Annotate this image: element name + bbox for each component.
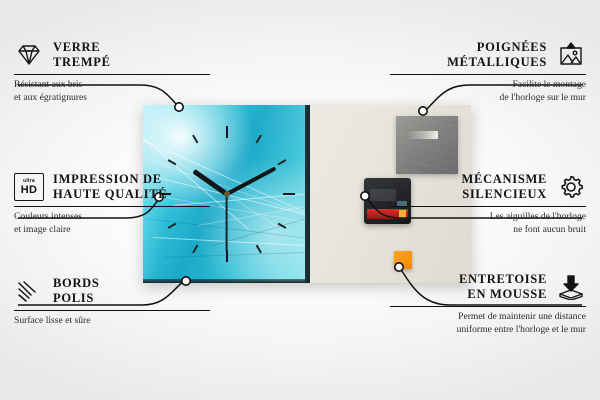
clock-right-edge	[305, 105, 310, 283]
feature-divider	[14, 206, 210, 207]
feature-divider	[390, 306, 586, 307]
clock-second-hand	[226, 194, 228, 252]
feature-title: BORDS POLIS	[53, 276, 100, 306]
metal-hanger-plate	[396, 116, 458, 174]
feature-title: POIGNÉES MÉTALLIQUES	[447, 40, 547, 70]
product-infographic: VERRE TREMPÉ Résistant aux bris et aux é…	[0, 0, 600, 400]
feature-bords-polis: BORDS POLIS Surface lisse et sûre	[14, 276, 210, 328]
feature-description: Les aiguilles de l'horloge ne font aucun…	[390, 211, 586, 237]
feature-title: ENTRETOISE EN MOUSSE	[459, 272, 547, 302]
polished-edges-icon	[14, 276, 44, 306]
feature-divider	[390, 74, 586, 75]
gear-icon	[556, 172, 586, 202]
feature-divider	[390, 206, 586, 207]
feature-poignees-metalliques: POIGNÉES MÉTALLIQUES Facilite le montage…	[390, 40, 586, 105]
feature-divider	[14, 74, 210, 75]
feature-header: BORDS POLIS	[14, 276, 210, 306]
feature-header: VERRE TREMPÉ	[14, 40, 210, 70]
clock-center-cap	[224, 191, 230, 197]
feature-title: IMPRESSION DE HAUTE QUALITÉ	[53, 172, 167, 202]
feature-description: Couleurs intenses et image claire	[14, 211, 210, 237]
feature-header: MÉCANISME SILENCIEUX	[390, 172, 586, 202]
press-down-foam-icon	[556, 272, 586, 302]
hanger-slot	[408, 131, 438, 139]
feature-description: Résistant aux bris et aux égratignures	[14, 79, 210, 105]
feature-entretoise-en-mousse: ENTRETOISE EN MOUSSE Permet de maintenir…	[390, 272, 586, 337]
diamond-icon	[14, 40, 44, 70]
feature-mecanisme-silencieux: MÉCANISME SILENCIEUX Les aiguilles de l'…	[390, 172, 586, 237]
feature-description: Permet de maintenir une distance uniform…	[390, 311, 586, 337]
feature-verre-trempe: VERRE TREMPÉ Résistant aux bris et aux é…	[14, 40, 210, 105]
feature-divider	[14, 310, 210, 311]
feature-header: ultra HD IMPRESSION DE HAUTE QUALITÉ	[14, 172, 210, 202]
feature-description: Facilite le montage de l'horloge sur le …	[390, 79, 586, 105]
feature-title: VERRE TREMPÉ	[53, 40, 111, 70]
feature-header: ENTRETOISE EN MOUSSE	[390, 272, 586, 302]
ultra-hd-badge-icon: ultra HD	[14, 172, 44, 202]
feature-impression-haute-qualite: ultra HD IMPRESSION DE HAUTE QUALITÉ Cou…	[14, 172, 210, 237]
feature-title: MÉCANISME SILENCIEUX	[462, 172, 547, 202]
picture-frame-hanging-icon	[556, 40, 586, 70]
feature-header: POIGNÉES MÉTALLIQUES	[390, 40, 586, 70]
feature-description: Surface lisse et sûre	[14, 315, 210, 328]
foam-spacer	[394, 251, 412, 269]
